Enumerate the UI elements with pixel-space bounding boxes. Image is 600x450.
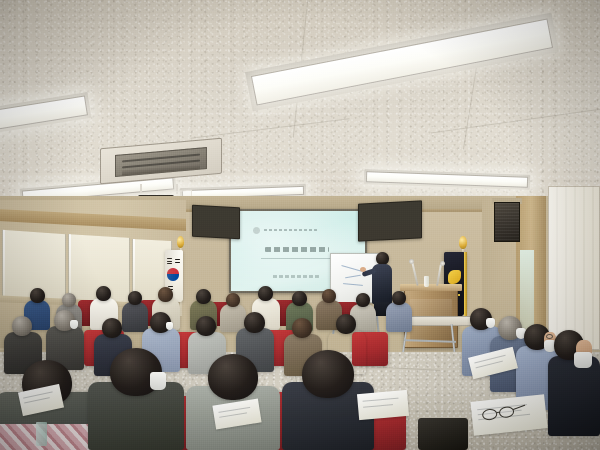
attendee-head: [208, 354, 258, 400]
photo-scene: [0, 0, 600, 450]
face-mask: [150, 372, 166, 390]
water-bottle: [36, 422, 47, 446]
document-paper: [357, 390, 409, 420]
attendee-head: [302, 350, 354, 398]
handbag: [418, 418, 468, 450]
audience-row-front: [0, 0, 600, 450]
